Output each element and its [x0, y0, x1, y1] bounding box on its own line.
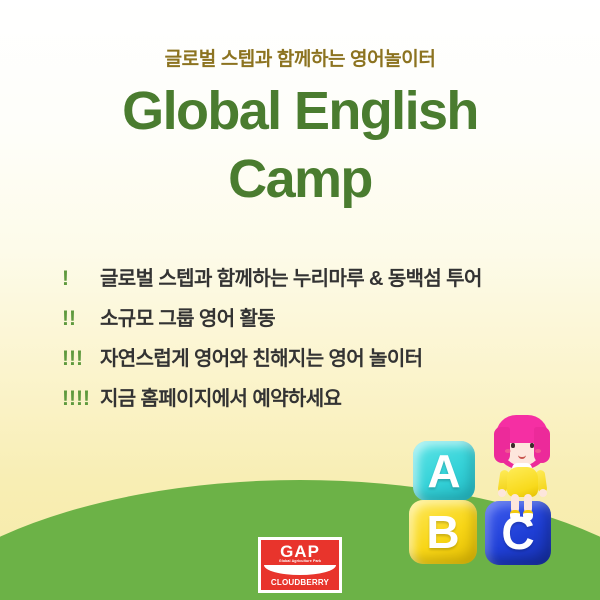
logo-brand-text: CLOUDBERRY	[261, 579, 339, 587]
list-item-label: 자연스럽게 영어와 친해지는 영어 놀이터	[100, 342, 422, 371]
list-item-label: 지금 홈페이지에서 예약하세요	[100, 382, 341, 411]
poster-subtitle: 글로벌 스텝과 함께하는 영어놀이터	[0, 44, 600, 71]
girl-eye-left	[511, 443, 515, 448]
page-title: Global English Camp	[0, 78, 600, 213]
list-item-label: 글로벌 스텝과 함께하는 누리마루 & 동백섬 투어	[100, 262, 482, 291]
list-item: !!! 자연스럽게 영어와 친해지는 영어 놀이터	[62, 342, 562, 382]
bullet-marker-icon: !	[62, 267, 100, 291]
girl-shoe-right	[523, 510, 533, 521]
girl-hair-right	[534, 427, 550, 463]
girl-shirt	[507, 467, 538, 497]
bullet-marker-icon: !!!!	[62, 387, 100, 411]
feature-bullet-list: ! 글로벌 스텝과 함께하는 누리마루 & 동백섬 투어 !! 소규모 그룹 영…	[62, 262, 562, 422]
poster-canvas: 글로벌 스텝과 함께하는 영어놀이터 Global English Camp !…	[0, 0, 600, 600]
girl-shoe-left	[510, 510, 520, 521]
logo-tagline-text: Global Agriculture Park	[261, 560, 339, 564]
girl-eye-right	[530, 443, 534, 448]
gap-cloudberry-logo: GAP Global Agriculture Park CLOUDBERRY	[258, 537, 342, 593]
list-item-label: 소규모 그룹 영어 활동	[100, 302, 275, 331]
logo-inner-panel: GAP Global Agriculture Park CLOUDBERRY	[261, 540, 339, 590]
block-a-letter: A	[427, 444, 460, 498]
logo-gap-text: GAP	[261, 543, 339, 560]
girl-cheek-right	[535, 449, 541, 453]
block-b: B	[409, 500, 477, 564]
girl-hair-left	[494, 427, 510, 463]
girl-hand-left	[498, 489, 506, 497]
block-a: A	[413, 441, 475, 501]
block-b-letter: B	[426, 505, 459, 559]
list-item: ! 글로벌 스텝과 함께하는 누리마루 & 동백섬 투어	[62, 262, 562, 302]
bullet-marker-icon: !!!	[62, 347, 100, 371]
girl-cheek-left	[505, 449, 511, 453]
logo-wave-shape	[264, 565, 336, 575]
girl-character-icon	[486, 415, 562, 510]
bullet-marker-icon: !!	[62, 307, 100, 331]
girl-hand-right	[539, 489, 547, 497]
abc-blocks-illustration: A B C	[400, 415, 600, 600]
list-item: !! 소규모 그룹 영어 활동	[62, 302, 562, 342]
